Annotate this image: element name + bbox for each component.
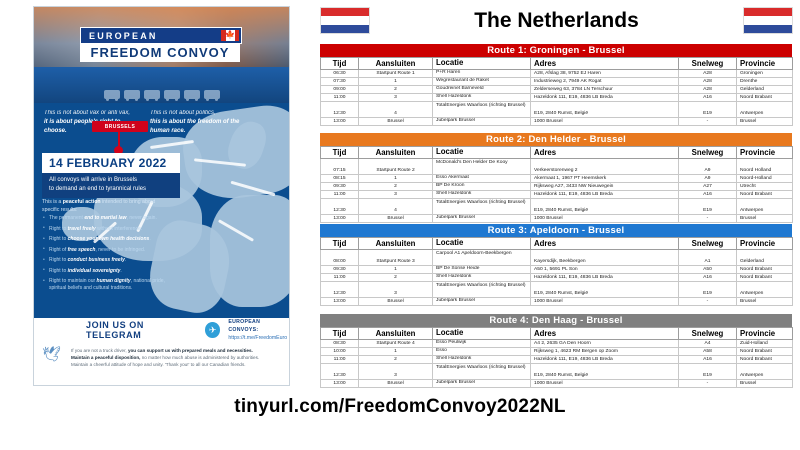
- peaceful-intro-bold: peaceful action: [63, 199, 101, 205]
- cell-locatie: Esso Peulwijk: [433, 340, 531, 348]
- poster-quote-left-line1: This is not about vax or anti vax,: [44, 109, 142, 118]
- route-block: Route 1: Groningen - BrusselTijdAansluit…: [320, 44, 792, 126]
- cell-locatie: Goudreinet Barneveld: [433, 86, 531, 94]
- cell-adres: 1000 Brussel: [531, 118, 679, 126]
- poster-right-item: The permanent end to martial law, never …: [42, 215, 170, 222]
- cell-adres: E19, 2840 Rumst, België: [531, 199, 679, 215]
- cell-aansluiten: 1: [359, 78, 433, 86]
- cell-snelweg: E19: [679, 199, 737, 215]
- cell-snelweg: A16: [679, 274, 737, 282]
- cell-tijd: 11:00: [321, 94, 359, 102]
- poster-right-item: Right to travel freely without interfere…: [42, 226, 170, 233]
- netherlands-flag-icon-right: [743, 7, 793, 34]
- cell-adres: Verkeerstorenweg 2: [531, 159, 679, 175]
- cell-aansluiten: 4: [359, 199, 433, 215]
- cell-snelweg: A16: [679, 191, 737, 199]
- cell-aansluiten: Startpunt Route 1: [359, 70, 433, 78]
- cell-tijd: 07:15: [321, 159, 359, 175]
- table-header-row: TijdAansluitenLocatieAdresSnelwegProvinc…: [321, 147, 793, 159]
- canadian-flag-icon: 🍁: [221, 30, 239, 41]
- poster-footnote: 🕊 If you are not a truck driver, you can…: [34, 342, 289, 385]
- cell-adres: A4 2, 2635 GA Den Hoorn: [531, 340, 679, 348]
- footnote-line-1: If you are not a truck driver, you can s…: [71, 347, 259, 354]
- right-item-emphasis: human dignity: [97, 278, 131, 284]
- column-header-snelweg: Snelweg: [679, 328, 737, 340]
- cell-locatie: BP De Kroon: [433, 183, 531, 191]
- cell-provincie: Noord-Holland: [737, 175, 793, 183]
- truck-icon: [104, 90, 120, 99]
- cell-provincie: Brussel: [737, 118, 793, 126]
- cell-locatie: Shell Hazeldonk: [433, 94, 531, 102]
- column-header-tijd: Tijd: [321, 58, 359, 70]
- cell-aansluiten: 4: [359, 102, 433, 118]
- cell-adres: Kayersdijk, Beekbergen: [531, 250, 679, 266]
- right-item-post: .: [149, 236, 150, 242]
- truck-icon: [164, 90, 180, 99]
- footnote-1-pre: If you are not a truck driver,: [71, 348, 128, 353]
- column-header-locatie: Locatie: [433, 328, 531, 340]
- poster-date-banner: 14 FEBRUARY 2022: [42, 153, 180, 173]
- table-row: 08:00Startpunt Route 3Carpool A1 Apeldoo…: [321, 250, 793, 266]
- column-header-adres: Adres: [531, 147, 679, 159]
- cell-locatie: TotalEnergies Waarloos (richting Brussel…: [433, 364, 531, 380]
- cell-tijd: 06:30: [321, 70, 359, 78]
- cell-provincie: Noord Brabant: [737, 94, 793, 102]
- page-title: The Netherlands: [313, 4, 800, 38]
- cell-snelweg: E19: [679, 102, 737, 118]
- table-row: 11:003Shell HazeldonkHazeldonk 111, E19,…: [321, 191, 793, 199]
- cell-adres: Rijksweg 1, 4623 RM Bergen op Zoom: [531, 348, 679, 356]
- table-row: 12:304TotalEnergies Waarloos (richting B…: [321, 199, 793, 215]
- cell-locatie: BP De Sonse Heide: [433, 266, 531, 274]
- cell-snelweg: A9: [679, 175, 737, 183]
- cell-aansluiten: Startpunt Route 4: [359, 340, 433, 348]
- cell-tijd: 12:30: [321, 364, 359, 380]
- freedom-convoy-poster: EUROPEAN 🍁 FREEDOM CONVOY: [33, 6, 290, 386]
- peaceful-intro-pre: This is a: [42, 199, 63, 205]
- cell-snelweg: A28: [679, 70, 737, 78]
- right-item-emphasis: choose your own health decisions: [68, 236, 150, 242]
- poster-rights-list: The permanent end to martial law, never …: [42, 215, 170, 296]
- poster-right-item: Right to conduct business freely.: [42, 257, 170, 264]
- telegram-channel-label: EUROPEAN CONVOYS:: [228, 318, 289, 334]
- cell-provincie: Brussel: [737, 298, 793, 306]
- cell-snelweg: -: [679, 298, 737, 306]
- cell-provincie: Zuid-Holland: [737, 340, 793, 348]
- table-header-row: TijdAansluitenLocatieAdresSnelwegProvinc…: [321, 58, 793, 70]
- cell-snelweg: -: [679, 215, 737, 223]
- cell-snelweg: A27: [679, 183, 737, 191]
- poster-right-item: Right to choose your own health decision…: [42, 236, 170, 243]
- cell-locatie: TotalEnergies Waarloos (richting Brussel…: [433, 102, 531, 118]
- poster-peaceful-intro: This is a peaceful action intended to br…: [42, 199, 170, 214]
- cell-snelweg: A58: [679, 348, 737, 356]
- cell-locatie: Shell Hazeldonk: [433, 356, 531, 364]
- cell-adres: Rijksweg A27, 3433 NW Nieuwegein: [531, 183, 679, 191]
- cell-aansluiten: Startpunt Route 2: [359, 159, 433, 175]
- cell-tijd: 12:30: [321, 199, 359, 215]
- cell-tijd: 13:00: [321, 380, 359, 388]
- cell-tijd: 08:15: [321, 175, 359, 183]
- cell-tijd: 12:30: [321, 282, 359, 298]
- column-header-aansluiten: Aansluiten: [359, 58, 433, 70]
- table-row: 09:301BP De Sonse HeideA50 1, 5691 PL So…: [321, 266, 793, 274]
- table-row: 11:002Shell HazeldonkHazeldonk 111, E19,…: [321, 274, 793, 282]
- poster-date-subtext-line1: All convoys will arrive in Brussels: [49, 176, 174, 185]
- panel-header: The Netherlands: [313, 4, 800, 40]
- flag-stripe-white: [744, 16, 792, 24]
- cell-provincie: Noord Brabant: [737, 274, 793, 282]
- cell-tijd: 08:30: [321, 340, 359, 348]
- poster-date-subtext-line2: to demand an end to tyrannical rules: [49, 185, 174, 194]
- cell-tijd: 12:30: [321, 102, 359, 118]
- poster-date-subtext: All convoys will arrive in Brussels to d…: [42, 173, 180, 198]
- cell-aansluiten: Brussel: [359, 298, 433, 306]
- cell-provincie: Brussel: [737, 380, 793, 388]
- route-table: TijdAansluitenLocatieAdresSnelwegProvinc…: [320, 146, 793, 223]
- cell-provincie: Gelderland: [737, 86, 793, 94]
- maple-leaf-icon: 🍁: [225, 31, 235, 39]
- cell-snelweg: A1: [679, 250, 737, 266]
- right-item-emphasis: individual sovereignty: [68, 268, 121, 274]
- cell-locatie: Shell Hazeldonk: [433, 191, 531, 199]
- cell-aansluiten: Startpunt Route 3: [359, 250, 433, 266]
- cell-adres: Hazeldonk 111, E19, 4836 LB Breda: [531, 191, 679, 199]
- brussels-map-pin: BRUSSELS: [92, 121, 148, 132]
- right-item-pre: Right to: [49, 268, 68, 274]
- cell-adres: Hazeldonk 111, E19, 4836 LB Breda: [531, 356, 679, 364]
- table-row: 07:15Startpunt Route 2McDonald's Den Hel…: [321, 159, 793, 175]
- table-row: 12:304TotalEnergies Waarloos (richting B…: [321, 102, 793, 118]
- column-header-adres: Adres: [531, 328, 679, 340]
- cell-snelweg: -: [679, 380, 737, 388]
- cell-tijd: 11:00: [321, 274, 359, 282]
- cell-aansluiten: Brussel: [359, 118, 433, 126]
- table-row: 08:30Startpunt Route 4Esso PeulwijkA4 2,…: [321, 340, 793, 348]
- cell-tijd: 07:30: [321, 78, 359, 86]
- column-header-aansluiten: Aansluiten: [359, 238, 433, 250]
- table-header-row: TijdAansluitenLocatieAdresSnelwegProvinc…: [321, 238, 793, 250]
- route-block: Route 4: Den Haag - BrusselTijdAansluite…: [320, 314, 792, 388]
- poster-footnote-text: If you are not a truck driver, you can s…: [71, 347, 259, 385]
- cell-snelweg: A50: [679, 266, 737, 274]
- right-item-emphasis: travel freely: [68, 226, 96, 232]
- right-item-post: .: [125, 257, 126, 263]
- column-header-adres: Adres: [531, 58, 679, 70]
- cell-locatie: TotalEnergies Waarloos (richting Brussel…: [433, 199, 531, 215]
- route-block: Route 2: Den Helder - BrusselTijdAanslui…: [320, 133, 792, 223]
- poster-quote-right: This is not about politics, this is abou…: [150, 109, 248, 136]
- right-item-emphasis: conduct business freely: [68, 257, 125, 263]
- right-item-pre: Right to maintain our: [49, 278, 97, 284]
- right-item-pre: The permanent: [49, 215, 84, 221]
- table-row: 08:151Esso AkermaatAkermaat 1, 1967 PT H…: [321, 175, 793, 183]
- column-header-aansluiten: Aansluiten: [359, 328, 433, 340]
- right-item-emphasis: free speech: [68, 247, 96, 253]
- route-table: TijdAansluitenLocatieAdresSnelwegProvinc…: [320, 237, 793, 306]
- cell-snelweg: A28: [679, 78, 737, 86]
- cell-locatie: Esso Akermaat: [433, 175, 531, 183]
- cell-provincie: Antwerpen: [737, 282, 793, 298]
- cell-provincie: Noord Brabant: [737, 356, 793, 364]
- table-row: 11:002Shell HazeldonkHazeldonk 111, E19,…: [321, 356, 793, 364]
- bottom-url: tinyurl.com/FreedomConvoy2022NL: [0, 396, 800, 418]
- cell-provincie: Utrecht: [737, 183, 793, 191]
- table-row: 13:00BrusselJubelpark Brussel1000 Brusse…: [321, 118, 793, 126]
- right-item-post: .: [120, 268, 121, 274]
- cell-tijd: 09:30: [321, 183, 359, 191]
- column-header-provincie: Provincie: [737, 147, 793, 159]
- cell-tijd: 11:00: [321, 191, 359, 199]
- cell-snelweg: A4: [679, 340, 737, 348]
- cell-adres: 1000 Brussel: [531, 215, 679, 223]
- cell-locatie: Esso: [433, 348, 531, 356]
- table-row: 07:301Wegrestaurant de RaketIndustrieweg…: [321, 78, 793, 86]
- cell-aansluiten: 3: [359, 282, 433, 298]
- cell-locatie: Jubelpark Brussel: [433, 298, 531, 306]
- cell-provincie: Noord Brabant: [737, 348, 793, 356]
- brussels-map-pin-label: BRUSSELS: [105, 124, 135, 130]
- column-header-locatie: Locatie: [433, 238, 531, 250]
- table-row: 09:002Goudreinet BarneveldZelderseweg 63…: [321, 86, 793, 94]
- cell-aansluiten: 2: [359, 274, 433, 282]
- flag-bar-right: [235, 30, 240, 41]
- column-header-provincie: Provincie: [737, 328, 793, 340]
- column-header-locatie: Locatie: [433, 147, 531, 159]
- cell-tijd: 08:00: [321, 250, 359, 266]
- cell-tijd: 10:00: [321, 348, 359, 356]
- cell-aansluiten: 3: [359, 191, 433, 199]
- cell-snelweg: A16: [679, 94, 737, 102]
- cell-snelweg: E19: [679, 364, 737, 380]
- cell-locatie: Jubelpark Brussel: [433, 380, 531, 388]
- telegram-strip[interactable]: JOIN US ON TELEGRAM ✈ EUROPEAN CONVOYS: …: [34, 318, 289, 342]
- right-item-emphasis: end to martial law: [84, 215, 126, 221]
- route-title: Route 2: Den Helder - Brussel: [320, 133, 792, 146]
- cell-provincie: Gelderland: [737, 250, 793, 266]
- table-row: 10:001EssoRijksweg 1, 4623 RM Bergen op …: [321, 348, 793, 356]
- cell-adres: Akermaat 1, 1967 PT Heemskerk: [531, 175, 679, 183]
- cell-tijd: 13:00: [321, 215, 359, 223]
- footnote-line-3: Maintain a cheerful attitude of hope and…: [71, 361, 259, 368]
- cell-adres: E19, 2840 Rumst, België: [531, 102, 679, 118]
- poster-banner-european-label: EUROPEAN: [81, 31, 158, 41]
- cell-snelweg: E19: [679, 282, 737, 298]
- column-header-snelweg: Snelweg: [679, 58, 737, 70]
- europe-map: BRUSSELS This is not about vax or anti v…: [34, 103, 289, 318]
- telegram-join-label: JOIN US ON TELEGRAM: [86, 320, 197, 340]
- cell-provincie: Noord Brabant: [737, 191, 793, 199]
- cell-locatie: P+R Haren: [433, 70, 531, 78]
- right-item-post: without interference.: [96, 226, 142, 232]
- dove-icon: 🕊: [42, 347, 66, 365]
- poster-right-item: Right of free speech, never to be infrin…: [42, 247, 170, 254]
- cell-snelweg: A16: [679, 356, 737, 364]
- cell-adres: Hazeldonk 111, E19, 4836 LB Breda: [531, 94, 679, 102]
- column-header-tijd: Tijd: [321, 147, 359, 159]
- poster-right-item: Right to individual sovereignty.: [42, 268, 170, 275]
- column-header-provincie: Provincie: [737, 58, 793, 70]
- footnote-line-2: Maintain a peaceful disposition, no matt…: [71, 354, 259, 361]
- cell-locatie: Wegrestaurant de Raket: [433, 78, 531, 86]
- truck-icon: [144, 90, 160, 99]
- cell-provincie: Noord Brabant: [737, 266, 793, 274]
- route-table: TijdAansluitenLocatieAdresSnelwegProvinc…: [320, 57, 793, 126]
- poster-right-item: Right to maintain our human dignity, nat…: [42, 278, 170, 292]
- cell-aansluiten: 2: [359, 183, 433, 191]
- telegram-icon[interactable]: ✈: [205, 322, 220, 338]
- cell-locatie: Carpool A1 Apeldoorn-Beekbergen: [433, 250, 531, 266]
- cell-provincie: Groningen: [737, 70, 793, 78]
- table-row: 09:302BP De KroonRijksweg A27, 3433 NW N…: [321, 183, 793, 191]
- poster-banner-european: EUROPEAN 🍁: [80, 27, 242, 44]
- cell-locatie: McDonald's Den Helder De Kooy: [433, 159, 531, 175]
- column-header-aansluiten: Aansluiten: [359, 147, 433, 159]
- cell-aansluiten: Brussel: [359, 380, 433, 388]
- cell-aansluiten: 1: [359, 266, 433, 274]
- column-header-provincie: Provincie: [737, 238, 793, 250]
- table-header-row: TijdAansluitenLocatieAdresSnelwegProvinc…: [321, 328, 793, 340]
- poster-date-label: 14 FEBRUARY 2022: [42, 156, 167, 170]
- cell-aansluiten: 1: [359, 175, 433, 183]
- cell-snelweg: A9: [679, 159, 737, 175]
- column-header-snelweg: Snelweg: [679, 238, 737, 250]
- cell-provincie: Noord Holland: [737, 159, 793, 175]
- column-header-tijd: Tijd: [321, 328, 359, 340]
- cell-aansluiten: 1: [359, 348, 433, 356]
- cell-adres: Industrieweg 2, 7949 AK Rogat: [531, 78, 679, 86]
- cell-provincie: Brussel: [737, 215, 793, 223]
- cell-adres: Zelderseweg 63, 3784 LN Terschuur: [531, 86, 679, 94]
- cell-adres: E19, 2840 Rumst, België: [531, 282, 679, 298]
- route-table: TijdAansluitenLocatieAdresSnelwegProvinc…: [320, 327, 793, 388]
- cell-aansluiten: 3: [359, 94, 433, 102]
- route-title: Route 3: Apeldoorn - Brussel: [320, 224, 792, 237]
- cell-adres: 1000 Brussel: [531, 298, 679, 306]
- route-block: Route 3: Apeldoorn - BrusselTijdAansluit…: [320, 224, 792, 306]
- cell-provincie: Antwerpen: [737, 199, 793, 215]
- table-row: 06:30Startpunt Route 1P+R HarenA28, Afsl…: [321, 70, 793, 78]
- right-item-pre: Right to: [49, 226, 68, 232]
- telegram-url-link[interactable]: https://t.me/FreedomEuro: [228, 334, 289, 342]
- truck-icon-row: [104, 90, 220, 99]
- column-header-snelweg: Snelweg: [679, 147, 737, 159]
- flag-stripe-blue: [744, 25, 792, 33]
- cell-adres: Hazeldonk 111, E19, 4836 LB Breda: [531, 274, 679, 282]
- route-title: Route 1: Groningen - Brussel: [320, 44, 792, 57]
- cell-snelweg: A28: [679, 86, 737, 94]
- poster-banner-freedom-convoy: FREEDOM CONVOY: [80, 43, 240, 62]
- table-row: 12:303TotalEnergies Waarloos (richting B…: [321, 282, 793, 298]
- cell-tijd: 13:00: [321, 118, 359, 126]
- right-item-pre: Right to: [49, 257, 68, 263]
- cell-aansluiten: Brussel: [359, 215, 433, 223]
- column-header-tijd: Tijd: [321, 238, 359, 250]
- column-header-adres: Adres: [531, 238, 679, 250]
- cell-snelweg: -: [679, 118, 737, 126]
- footnote-1-bold: you can support us with prepared meals a…: [128, 348, 253, 353]
- cell-aansluiten: 2: [359, 356, 433, 364]
- flag-middle: 🍁: [226, 30, 235, 41]
- cell-tijd: 09:30: [321, 266, 359, 274]
- poster-quote-right-line2: this is about the freedom of the human r…: [150, 118, 248, 136]
- flag-stripe-red: [744, 8, 792, 16]
- telegram-meta: EUROPEAN CONVOYS: https://t.me/FreedomEu…: [228, 318, 289, 342]
- cell-locatie: Shell Hazeldonk: [433, 274, 531, 282]
- cell-adres: 1000 Brussel: [531, 380, 679, 388]
- footnote-2-bold: Maintain a peaceful disposition,: [71, 355, 140, 360]
- truck-icon: [184, 90, 200, 99]
- cell-locatie: TotalEnergies Waarloos (richting Brussel…: [433, 282, 531, 298]
- table-row: 12:303TotalEnergies Waarloos (richting B…: [321, 364, 793, 380]
- cell-adres: E19, 2840 Rumst, België: [531, 364, 679, 380]
- cell-locatie: Jubelpark Brussel: [433, 215, 531, 223]
- right-item-post: , never again.: [127, 215, 157, 221]
- table-row: 13:00BrusselJubelpark Brussel1000 Brusse…: [321, 298, 793, 306]
- truck-hood-graphic: [34, 67, 289, 103]
- right-item-pre: Right of: [49, 247, 68, 253]
- route-title: Route 4: Den Haag - Brussel: [320, 314, 792, 327]
- footnote-2-post: no matter how much abuse is administered…: [140, 355, 259, 360]
- cell-tijd: 09:00: [321, 86, 359, 94]
- truck-icon: [124, 90, 140, 99]
- poster-quote-right-line1: This is not about politics,: [150, 109, 248, 118]
- poster-banner-freedom-convoy-label: FREEDOM CONVOY: [91, 45, 230, 60]
- cell-aansluiten: 3: [359, 364, 433, 380]
- table-row: 13:00BrusselJubelpark Brussel1000 Brusse…: [321, 215, 793, 223]
- table-row: 13:00BrusselJubelpark Brussel1000 Brusse…: [321, 380, 793, 388]
- right-item-pre: Right to: [49, 236, 68, 242]
- slide-canvas: EUROPEAN 🍁 FREEDOM CONVOY: [0, 0, 800, 450]
- cell-provincie: Drenthe: [737, 78, 793, 86]
- cell-adres: A50 1, 5691 PL Son: [531, 266, 679, 274]
- cell-tijd: 11:00: [321, 356, 359, 364]
- routes-panel: The Netherlands Route 1: Groningen - Bru…: [313, 0, 800, 450]
- cell-provincie: Antwerpen: [737, 102, 793, 118]
- cell-adres: A28, Afslag 38, 9752 EJ Haren: [531, 70, 679, 78]
- column-header-locatie: Locatie: [433, 58, 531, 70]
- table-row: 11:003Shell HazeldonkHazeldonk 111, E19,…: [321, 94, 793, 102]
- cell-locatie: Jubelpark Brussel: [433, 118, 531, 126]
- cell-aansluiten: 2: [359, 86, 433, 94]
- cell-provincie: Antwerpen: [737, 364, 793, 380]
- right-item-post: , never to be infringed.: [95, 247, 145, 253]
- cell-tijd: 13:00: [321, 298, 359, 306]
- truck-icon: [204, 90, 220, 99]
- landmass-shape: [210, 195, 289, 307]
